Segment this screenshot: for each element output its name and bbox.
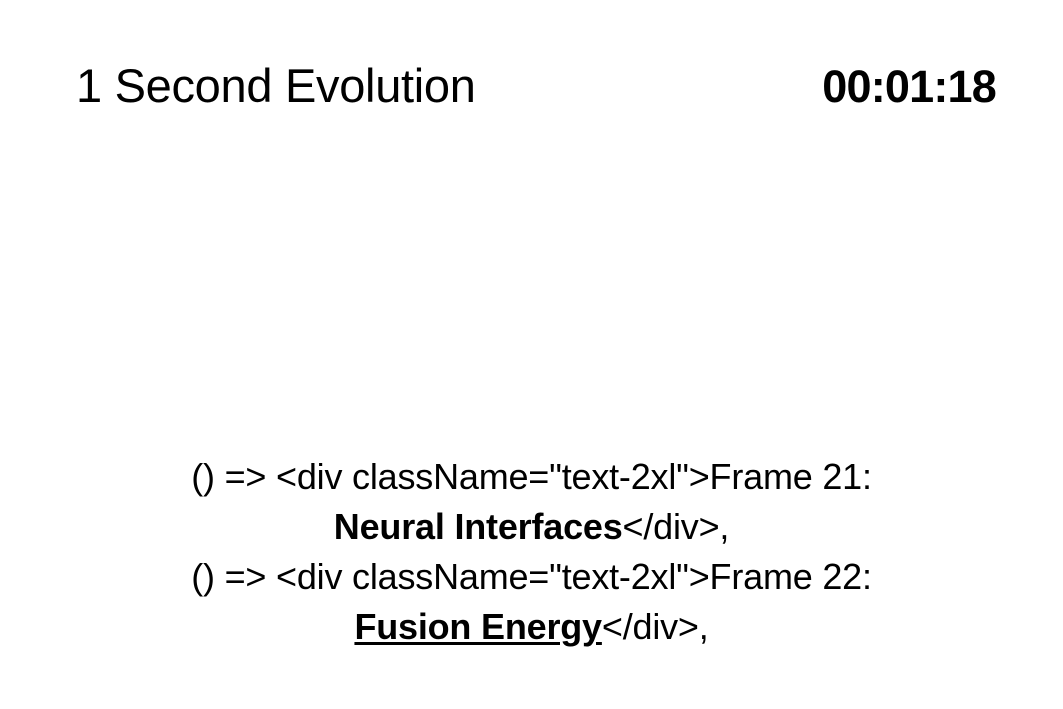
code-prefix: () => <div className="text-2xl">Frame 22… bbox=[191, 556, 872, 597]
code-emphasis: Neural Interfaces bbox=[334, 506, 623, 547]
code-snippet-block: () => <div className="text-2xl">Frame 21… bbox=[148, 452, 916, 652]
page-title: 1 Second Evolution bbox=[76, 62, 476, 109]
elapsed-timer: 00:01:18 bbox=[822, 64, 996, 109]
code-line: () => <div className="text-2xl">Frame 22… bbox=[148, 552, 916, 652]
code-emphasis: Fusion Energy bbox=[354, 606, 601, 647]
code-suffix: </div>, bbox=[602, 606, 709, 647]
page-header: 1 Second Evolution 00:01:18 bbox=[76, 62, 996, 128]
code-suffix: </div>, bbox=[623, 506, 730, 547]
code-line: () => <div className="text-2xl">Frame 21… bbox=[148, 452, 916, 552]
code-prefix: () => <div className="text-2xl">Frame 21… bbox=[191, 456, 872, 497]
